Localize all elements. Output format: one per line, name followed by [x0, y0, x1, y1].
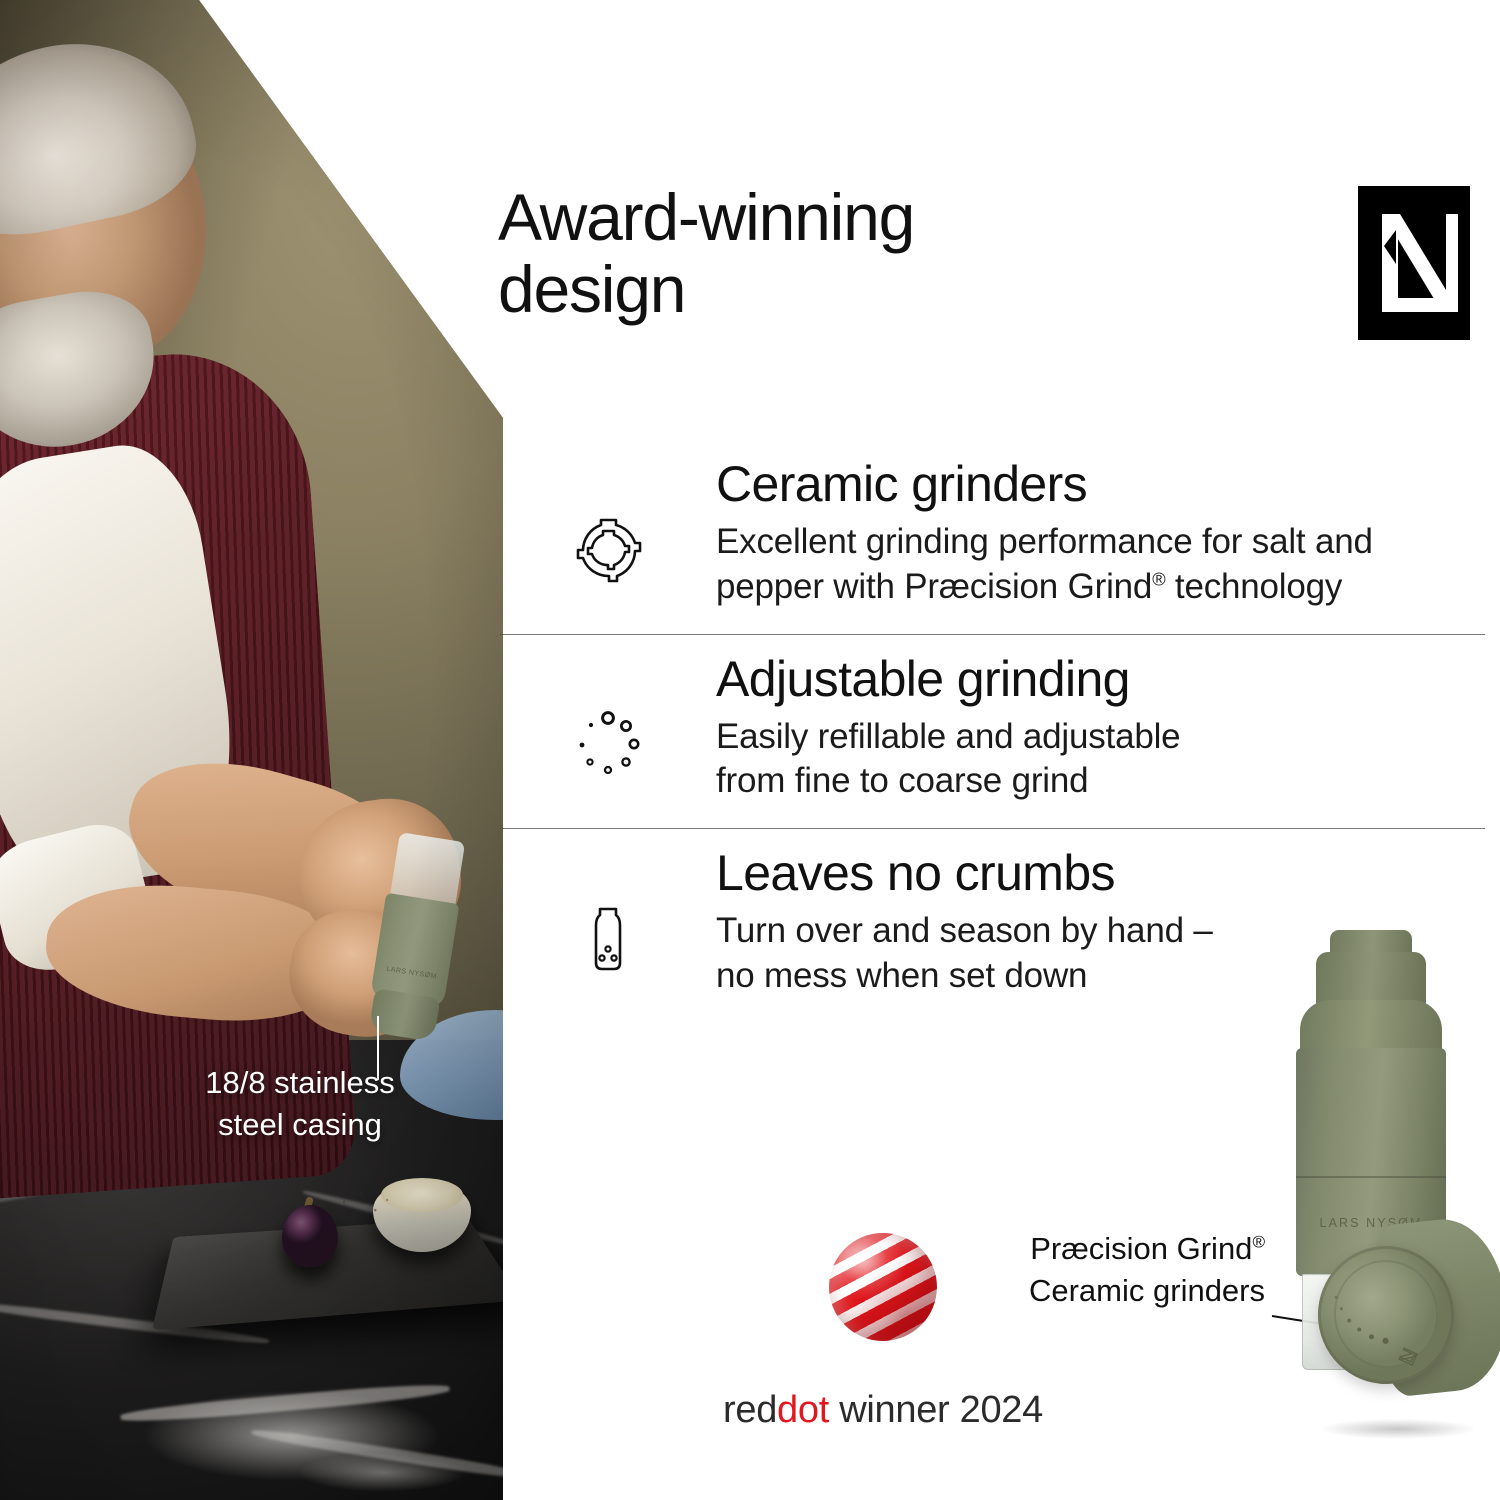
product-image: LARS NYSØM [1218, 930, 1500, 1500]
page-title-line-1: Award-winning [498, 180, 914, 254]
feature-body-line-2-pre: from fine to coarse grind [716, 761, 1088, 800]
reddot-caption-winner: winner 2024 [829, 1389, 1043, 1431]
grind-setting-dot [1357, 1327, 1362, 1332]
feature-item-adjustable-grinding: Adjustable grinding Easily refillable an… [500, 635, 1485, 829]
photo-callout: 18/8 stainless steel casing [146, 1062, 454, 1146]
feature-icon-slot [500, 456, 716, 588]
feature-body-line-2-pre: no mess when set down [716, 956, 1087, 995]
feature-divider [500, 634, 1485, 635]
feature-body-line-1: Easily refillable and adjustable [716, 717, 1180, 756]
grind-setting-dot [1335, 1296, 1338, 1299]
feature-icon-slot [500, 845, 716, 977]
feature-text: Ceramic grinders Excellent grinding perf… [716, 456, 1485, 610]
photo-scene: LARS NYSØM [0, 0, 503, 1500]
page-title-line-2: design [498, 252, 685, 326]
brand-logo [1358, 186, 1470, 340]
photo-callout-line-2: steel casing [146, 1104, 454, 1146]
feature-text: Adjustable grinding Easily refillable an… [716, 651, 1485, 805]
feature-item-ceramic-grinders: Ceramic grinders Excellent grinding perf… [500, 440, 1485, 634]
infographic-canvas: LARS NYSØM 18/8 stainless steel casing A… [0, 0, 1500, 1500]
feature-body-line-2-post: technology [1165, 567, 1342, 606]
grind-setting-dot [1340, 1307, 1343, 1310]
feature-heading: Leaves no crumbs [716, 845, 1475, 901]
feature-divider [500, 828, 1485, 829]
reddot-caption: reddot winner 2024 [703, 1389, 1063, 1432]
feature-icon-slot [500, 651, 716, 783]
page-title: Award-winning design [498, 182, 1318, 326]
feature-heading: Ceramic grinders [716, 456, 1475, 512]
grinder-bottle-icon [570, 901, 646, 977]
grinder-lying [1304, 1198, 1500, 1430]
lifestyle-photo-panel: LARS NYSØM 18/8 stainless steel casing [0, 0, 503, 1500]
grind-setting-dot [1369, 1334, 1374, 1339]
feature-body-line-1: Turn over and season by hand – [716, 911, 1213, 950]
grind-coarseness-dots-icon [570, 707, 646, 783]
reddot-caption-red: red [723, 1389, 777, 1431]
grinder-seam [1296, 1176, 1446, 1178]
photo-vignette [0, 0, 503, 1500]
grind-setting-dot [1382, 1338, 1388, 1344]
feature-body-line-1: Excellent grinding performance for salt … [716, 522, 1373, 561]
feature-body: Easily refillable and adjustable from fi… [716, 715, 1475, 805]
lars-nysom-monogram-icon [1358, 186, 1470, 340]
feature-body-line-2-pre: pepper with Præcision Grind [716, 567, 1152, 606]
photo-callout-line-1: 18/8 stainless [146, 1062, 454, 1104]
reddot-caption-dot: dot [777, 1389, 829, 1431]
ceramic-burr-icon [570, 512, 646, 588]
registered-mark: ® [1152, 569, 1165, 589]
feature-body: Excellent grinding performance for salt … [716, 520, 1475, 610]
reddot-sphere-icon [829, 1233, 937, 1341]
feature-heading: Adjustable grinding [716, 651, 1475, 707]
grind-setting-dot [1347, 1318, 1351, 1322]
